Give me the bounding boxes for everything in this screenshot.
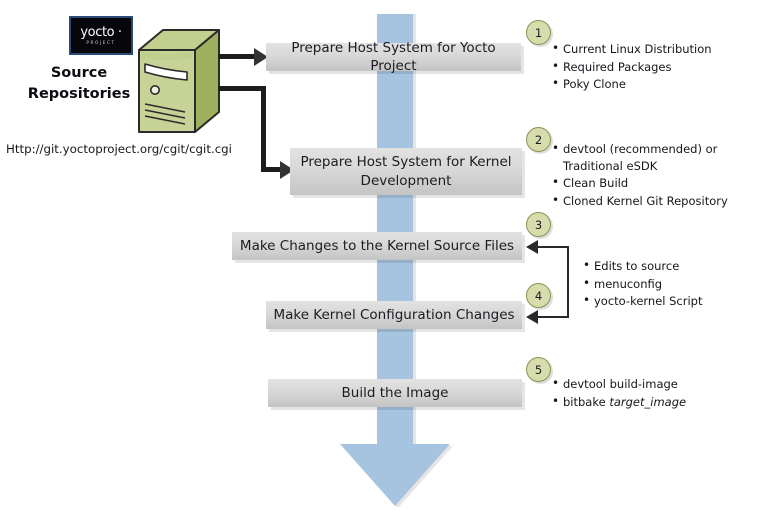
step-box-5-label: Build the Image: [342, 384, 449, 402]
step-number-4-label: 4: [535, 289, 542, 303]
step-number-2-label: 2: [535, 133, 542, 147]
connector-server-to-step1: [218, 54, 256, 59]
arrowhead-step3-feedback-icon: [526, 240, 538, 254]
yocto-logo-wordmark: yocto ·: [80, 26, 121, 39]
step-notes-2: devtool (recommended) or Traditional eSD…: [551, 141, 763, 211]
step-box-2-label: Prepare Host System for Kernel Developme…: [296, 153, 516, 189]
step-number-2: 2: [526, 127, 551, 152]
yocto-project-logo: yocto · PROJECT: [69, 16, 133, 55]
note-item: yocto-kernel Script: [582, 293, 762, 310]
note-item: Edits to source: [582, 258, 762, 275]
step-number-3: 3: [526, 212, 551, 237]
note-item: devtool build-image: [551, 376, 756, 393]
step-box-3-label: Make Changes to the Kernel Source Files: [240, 237, 514, 255]
arrowhead-step4-feedback-icon: [526, 310, 538, 324]
shared-notes-step3-step4: Edits to source menuconfig yocto-kernel …: [582, 258, 762, 311]
note-bitbake-command: bitbake: [563, 395, 609, 409]
step-notes-5: devtool build-image bitbake target_image: [551, 376, 756, 411]
step-box-4-label: Make Kernel Configuration Changes: [273, 306, 514, 324]
step-box-5[interactable]: Build the Image: [268, 379, 522, 407]
note-item-bitbake: bitbake target_image: [551, 394, 756, 411]
step-number-1: 1: [526, 20, 551, 45]
note-item: Clean Build: [551, 175, 763, 192]
connector-server-to-step2-vertical: [261, 86, 266, 172]
note-item: menuconfig: [582, 276, 762, 293]
note-item: Required Packages: [551, 59, 761, 76]
step-box-3[interactable]: Make Changes to the Kernel Source Files: [232, 232, 522, 260]
step-number-4: 4: [526, 283, 551, 308]
note-item: devtool (recommended) or Traditional eSD…: [551, 141, 763, 174]
step-number-3-label: 3: [535, 218, 542, 232]
note-item: Poky Clone: [551, 76, 761, 93]
note-item: Current Linux Distribution: [551, 41, 761, 58]
connector-server-to-step2-horizontal: [218, 86, 266, 91]
flow-arrowhead-icon: [340, 444, 450, 506]
note-item: Cloned Kernel Git Repository: [551, 193, 763, 210]
server-tower-icon: [135, 28, 223, 138]
feedback-bracket-bottom: [538, 316, 569, 318]
yocto-logo-subtext: PROJECT: [86, 41, 115, 45]
source-repositories-label: Source Repositories: [14, 63, 144, 105]
feedback-bracket-vertical: [567, 246, 569, 318]
step-box-2[interactable]: Prepare Host System for Kernel Developme…: [290, 148, 522, 195]
diagram-canvas: yocto · PROJECT Source Repositories Http…: [0, 0, 769, 517]
source-repository-url[interactable]: Http://git.yoctoproject.org/cgit/cgit.cg…: [6, 142, 232, 156]
feedback-bracket-top: [538, 246, 569, 248]
step-box-1-label: Prepare Host System for Yocto Project: [272, 39, 515, 75]
step-box-4[interactable]: Make Kernel Configuration Changes: [266, 301, 522, 329]
step-box-1[interactable]: Prepare Host System for Yocto Project: [266, 43, 521, 71]
step-number-5-label: 5: [535, 363, 542, 377]
note-bitbake-target: target_image: [609, 395, 686, 409]
step-notes-1: Current Linux Distribution Required Pack…: [551, 41, 761, 94]
step-number-1-label: 1: [535, 26, 542, 40]
step-number-5: 5: [526, 357, 551, 382]
